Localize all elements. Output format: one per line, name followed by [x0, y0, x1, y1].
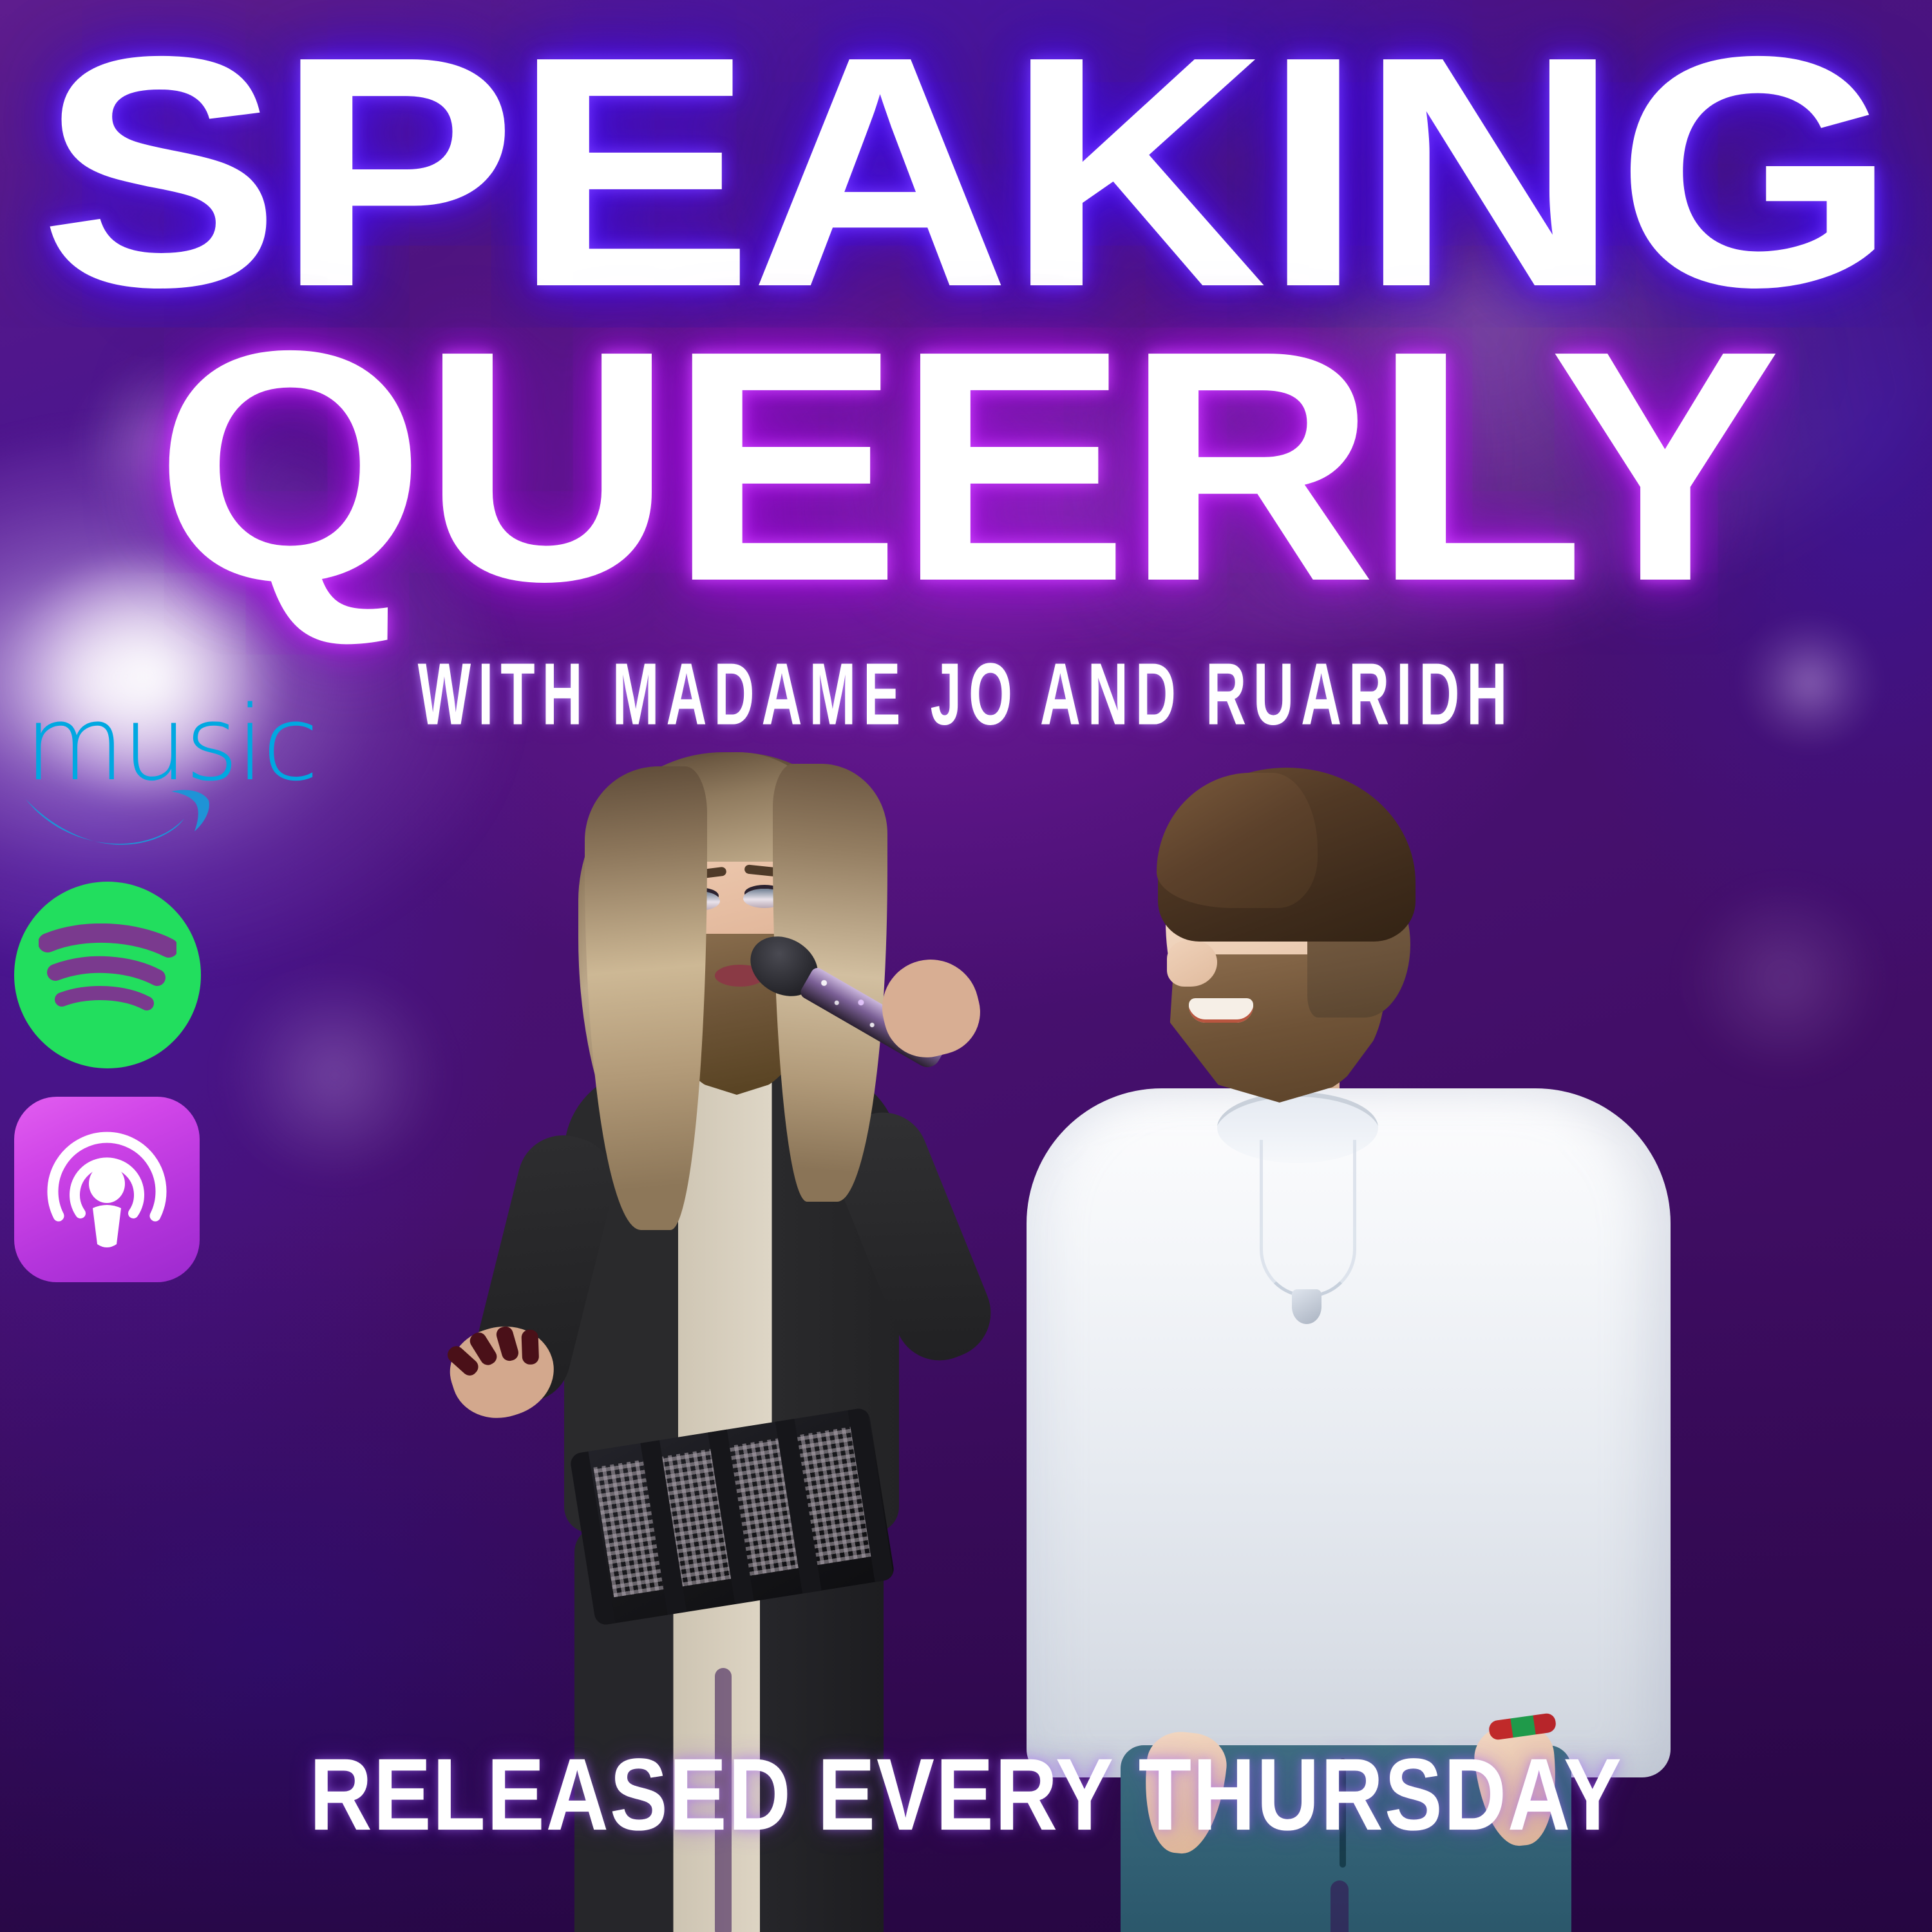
platform-badge-apple-podcasts[interactable]: [14, 1097, 200, 1282]
ru-necklace-chain: [1260, 1140, 1356, 1298]
ru-leg-gap: [1331, 1880, 1349, 1932]
ru-hair-sweep: [1157, 773, 1318, 908]
footer-block: RELEASED EVERY THURSDAY: [0, 1739, 1932, 1850]
title-line-speaking: SPEAKING: [0, 31, 1932, 314]
spotify-icon: [39, 923, 176, 1027]
release-schedule-text: RELEASED EVERY THURSDAY: [97, 1736, 1835, 1853]
platform-badge-spotify[interactable]: [14, 882, 201, 1068]
jo-nail: [521, 1329, 539, 1365]
ru-necklace-pendant: [1292, 1289, 1321, 1324]
jo-nail: [495, 1325, 520, 1363]
subtitle-hosts: WITH MADAME JO AND RUARIDH: [213, 643, 1719, 744]
ru-smile: [1189, 998, 1253, 1023]
podcast-cover-art: SPEAKING QUEERLY WITH MADAME JO AND RUAR…: [0, 0, 1932, 1932]
amazon-music-icon: [22, 785, 215, 856]
title-block: SPEAKING QUEERLY WITH MADAME JO AND RUAR…: [0, 0, 1932, 726]
apple-podcasts-icon: [39, 1122, 175, 1257]
platform-badge-list: music: [14, 692, 227, 1282]
amazon-music-wordmark: music: [24, 692, 227, 795]
title-line-queerly: QUEERLY: [0, 325, 1932, 608]
platform-badge-amazon-music[interactable]: music: [14, 692, 227, 853]
